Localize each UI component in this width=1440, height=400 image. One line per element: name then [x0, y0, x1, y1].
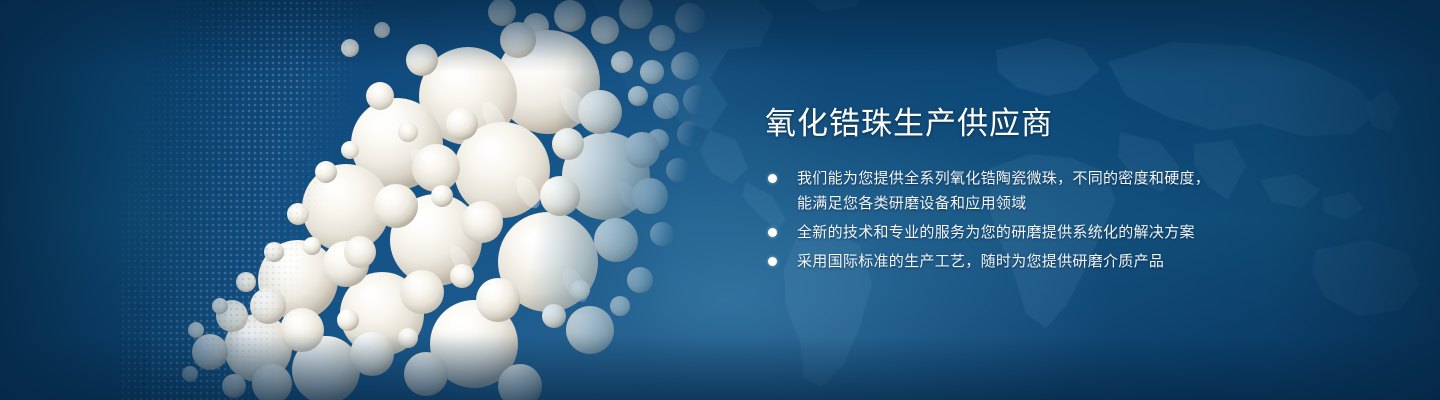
hero-banner: 氧化锆珠生产供应商 我们能为您提供全系列氧化锆陶瓷微珠，不同的密度和硬度， 能满… [0, 0, 1440, 400]
bullet-line-1: 我们能为您提供全系列氧化锆陶瓷微珠，不同的密度和硬度， [797, 170, 1210, 187]
bullet-line-1: 全新的技术和专业的服务为您的研磨提供系统化的解决方案 [797, 224, 1195, 241]
banner-copy: 氧化锆珠生产供应商 我们能为您提供全系列氧化锆陶瓷微珠，不同的密度和硬度， 能满… [765, 104, 1385, 278]
list-item: 我们能为您提供全系列氧化锆陶瓷微珠，不同的密度和硬度， 能满足您各类研磨设备和应… [765, 166, 1385, 216]
list-item: 全新的技术和专业的服务为您的研磨提供系统化的解决方案 [765, 220, 1385, 245]
bullet-line-2: 能满足您各类研磨设备和应用领域 [797, 191, 1385, 216]
bullet-dot-icon [768, 257, 777, 266]
bullet-dot-icon [768, 174, 777, 183]
banner-bullet-list: 我们能为您提供全系列氧化锆陶瓷微珠，不同的密度和硬度， 能满足您各类研磨设备和应… [765, 166, 1385, 274]
banner-headline: 氧化锆珠生产供应商 [765, 104, 1385, 144]
bullet-line-1: 采用国际标准的生产工艺，随时为您提供研磨介质产品 [797, 253, 1164, 270]
bullet-dot-icon [768, 228, 777, 237]
list-item: 采用国际标准的生产工艺，随时为您提供研磨介质产品 [765, 249, 1385, 274]
